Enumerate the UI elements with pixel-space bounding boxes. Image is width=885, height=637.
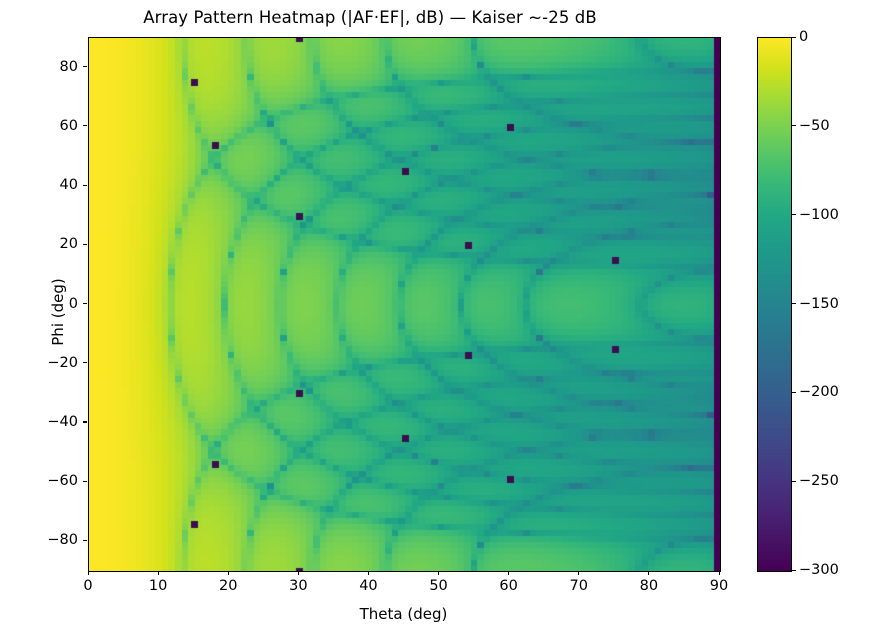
- y-tick-mark: [83, 540, 87, 541]
- x-tick-label: 20: [219, 578, 237, 594]
- y-tick-label: −80: [20, 532, 78, 548]
- x-tick-mark: [648, 571, 649, 575]
- colorbar-tick-label: −250: [799, 473, 839, 489]
- colorbar-tick-mark: [792, 125, 796, 126]
- x-tick-label: 10: [149, 578, 167, 594]
- colorbar-tick-label: −50: [799, 118, 830, 134]
- heatmap-pixels: [89, 38, 720, 571]
- colorbar: [757, 37, 792, 572]
- y-tick-label: 60: [20, 118, 78, 134]
- chart-title: Array Pattern Heatmap (|AF·EF|, dB) — Ka…: [0, 8, 740, 27]
- x-tick-mark: [88, 571, 89, 575]
- colorbar-tick-label: −300: [799, 562, 839, 578]
- x-tick-label: 70: [570, 578, 588, 594]
- x-tick-mark: [438, 571, 439, 575]
- x-tick-mark: [578, 571, 579, 575]
- heatmap-image: [89, 38, 720, 571]
- y-tick-mark: [83, 421, 87, 422]
- colorbar-tick-mark: [792, 570, 796, 571]
- colorbar-tick-mark: [792, 392, 796, 393]
- x-tick-label: 50: [429, 578, 447, 594]
- y-tick-label: −40: [20, 414, 78, 430]
- colorbar-tick-label: −100: [799, 207, 839, 223]
- y-tick-mark: [83, 481, 87, 482]
- colorbar-tick-mark: [792, 303, 796, 304]
- x-tick-mark: [228, 571, 229, 575]
- colorbar-tick-mark: [792, 37, 796, 38]
- x-axis-label: Theta (deg): [88, 605, 719, 623]
- heatmap-axes: [88, 37, 721, 572]
- y-tick-mark: [83, 66, 87, 67]
- x-tick-label: 40: [359, 578, 377, 594]
- y-tick-mark: [83, 362, 87, 363]
- x-tick-label: 90: [710, 578, 728, 594]
- y-tick-mark: [83, 125, 87, 126]
- x-tick-label: 60: [499, 578, 517, 594]
- x-tick-label: 80: [640, 578, 658, 594]
- colorbar-gradient: [758, 38, 791, 571]
- figure-canvas: Array Pattern Heatmap (|AF·EF|, dB) — Ka…: [0, 0, 885, 637]
- y-tick-label: −60: [20, 473, 78, 489]
- colorbar-tick-mark: [792, 481, 796, 482]
- x-tick-mark: [508, 571, 509, 575]
- x-tick-mark: [719, 571, 720, 575]
- x-tick-label: 0: [83, 578, 92, 594]
- x-tick-label: 30: [289, 578, 307, 594]
- x-tick-mark: [298, 571, 299, 575]
- y-tick-mark: [83, 185, 87, 186]
- colorbar-tick-mark: [792, 214, 796, 215]
- y-tick-mark: [83, 244, 87, 245]
- x-tick-mark: [368, 571, 369, 575]
- colorbar-tick-label: −200: [799, 384, 839, 400]
- x-tick-mark: [158, 571, 159, 575]
- y-tick-label: 40: [20, 177, 78, 193]
- y-axis-label: Phi (deg): [49, 232, 67, 392]
- y-tick-label: 80: [20, 59, 78, 75]
- y-tick-mark: [83, 303, 87, 304]
- colorbar-tick-label: 0: [799, 29, 808, 45]
- colorbar-tick-label: −150: [799, 296, 839, 312]
